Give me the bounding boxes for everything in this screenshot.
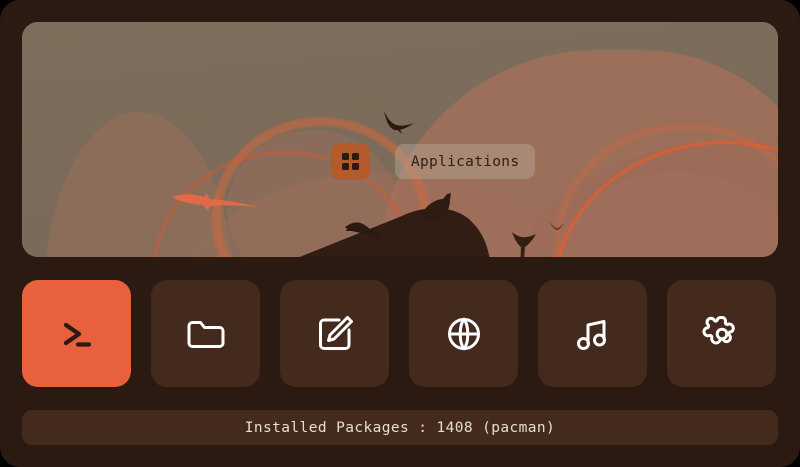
wallpaper-perched-bird-silhouette <box>417 190 455 220</box>
terminal-icon <box>54 311 100 357</box>
applications-launcher-button[interactable] <box>331 143 370 180</box>
dock-item-editor[interactable] <box>280 280 389 387</box>
wallpaper-panel: Applications <box>22 22 778 257</box>
applications-tooltip: Applications <box>395 144 535 179</box>
wallpaper-distant-bird <box>550 222 564 230</box>
dock-item-files[interactable] <box>151 280 260 387</box>
wallpaper-flying-bird-left <box>344 219 384 241</box>
globe-icon <box>441 311 487 357</box>
wallpaper-stalk-silhouette <box>510 230 540 257</box>
desktop-screen: Applications <box>0 0 800 467</box>
folder-icon <box>183 311 229 357</box>
installed-packages-text: Installed Packages : 1408 (pacman) <box>245 420 555 436</box>
wallpaper-flare-bird <box>170 190 260 212</box>
grid-icon-cell <box>352 163 359 170</box>
grid-icon-cell <box>342 163 349 170</box>
wallpaper-rock-silhouette <box>292 200 532 257</box>
dock <box>22 280 778 387</box>
dock-item-browser[interactable] <box>409 280 518 387</box>
grid-icon <box>342 153 359 170</box>
edit-pencil-icon <box>312 311 358 357</box>
grid-icon-cell <box>342 153 349 160</box>
dock-item-terminal[interactable] <box>22 280 131 387</box>
status-bar: Installed Packages : 1408 (pacman) <box>22 410 778 445</box>
music-note-icon <box>570 311 616 357</box>
dock-item-settings[interactable] <box>667 280 776 387</box>
dock-item-music[interactable] <box>538 280 647 387</box>
wallpaper-flying-bird-top <box>380 110 416 134</box>
grid-icon-cell <box>352 153 359 160</box>
applications-tooltip-label: Applications <box>411 154 519 170</box>
gear-icon <box>699 311 745 357</box>
